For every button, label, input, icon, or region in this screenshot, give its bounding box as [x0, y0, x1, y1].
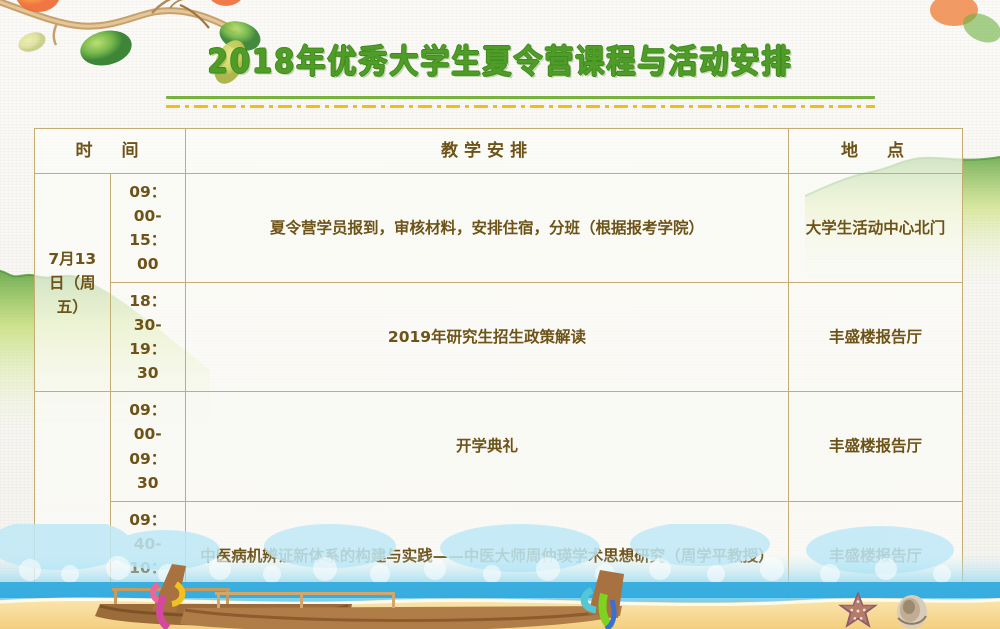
title-rule-dashed [166, 105, 875, 108]
cell-time: 09：00-09：30 [110, 392, 186, 501]
cell-arrangement: 开学典礼 [186, 392, 789, 501]
poster-page: 2018年优秀大学生夏令营课程与活动安排 时 [0, 0, 1000, 629]
cell-location: 丰盛楼报告厅 [789, 392, 963, 501]
cell-arrangement: 中医病机辨证新体系的构建与实践——中医大师周仲瑛学术思想研究（周学平教授） [186, 501, 789, 610]
cell-time: 18：30-19：30 [110, 283, 186, 392]
cell-arrangement: 夏令营学员报到，审核材料，安排住宿，分班（根据报考学院） [186, 174, 789, 283]
table-header-row: 时 间 教学安排 地 点 [35, 129, 963, 174]
table-row: 7月13日（周五）09：00-15：00夏令营学员报到，审核材料，安排住宿，分班… [35, 174, 963, 283]
cell-time: 09：00-15：00 [110, 174, 186, 283]
header-time: 时 间 [35, 129, 186, 174]
table-row: 18：30-19：302019年研究生招生政策解读丰盛楼报告厅 [35, 283, 963, 392]
header-location: 地 点 [789, 129, 963, 174]
cell-time: 09：40-10：40 [110, 501, 186, 610]
cell-date: 7月13日（周五） [35, 174, 111, 392]
title-rule-green [166, 96, 875, 99]
schedule-table-body: 7月13日（周五）09：00-15：00夏令营学员报到，审核材料，安排住宿，分班… [35, 174, 963, 629]
table-row: 09：40-10：40中医病机辨证新体系的构建与实践——中医大师周仲瑛学术思想研… [35, 501, 963, 610]
cell-date: 7月14日（周六） [35, 392, 111, 629]
cell-location: 大学生活动中心北门 [789, 174, 963, 283]
page-title-wrap: 2018年优秀大学生夏令营课程与活动安排 [0, 38, 1000, 80]
cell-location: 丰盛楼报告厅 [789, 501, 963, 610]
header-arrangement: 教学安排 [186, 129, 789, 174]
cell-time: 10：50-11：50 [110, 610, 186, 629]
cell-location: 丰盛楼报告厅 [789, 283, 963, 392]
cell-arrangement: 2019年研究生招生政策解读 [186, 283, 789, 392]
cell-arrangement: 天然产物与退行性疾病（沈旭教授） [186, 610, 789, 629]
table-row: 10：50-11：50天然产物与退行性疾病（沈旭教授）丰盛楼报告厅 [35, 610, 963, 629]
table-row: 7月14日（周六）09：00-09：30开学典礼丰盛楼报告厅 [35, 392, 963, 501]
page-title: 2018年优秀大学生夏令营课程与活动安排 [208, 35, 793, 82]
schedule-table: 时 间 教学安排 地 点 7月13日（周五）09：00-15：00夏令营学员报到… [34, 128, 963, 629]
cell-location: 丰盛楼报告厅 [789, 610, 963, 629]
